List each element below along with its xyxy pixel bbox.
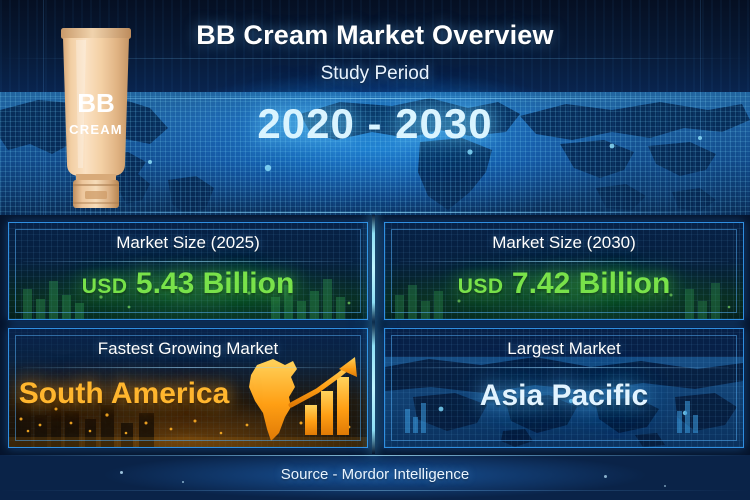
column-divider-top (372, 214, 375, 322)
panel-label-largest-market: Largest Market (385, 339, 743, 359)
bb-cream-tube-graphic: BB CREAM (52, 24, 140, 210)
panel-label-market-size-2030: Market Size (2030) (385, 233, 743, 253)
panel-divider (399, 261, 729, 262)
panel-label-market-size-2025: Market Size (2025) (9, 233, 367, 253)
footer-rule-bottom (0, 490, 750, 491)
header-section: BB CREAM BB Cream Market Overview Study … (0, 0, 750, 215)
panel-value-market-size-2030: USD 7.42 Billion (385, 267, 743, 301)
infographic-root: BB CREAM BB Cream Market Overview Study … (0, 0, 750, 500)
footer-section: Source - Mordor Intelligence (0, 455, 750, 500)
panel-value-largest-market: Asia Pacific (385, 379, 743, 413)
currency-unit: USD (458, 275, 504, 298)
panel-market-size-2030[interactable]: Market Size (2030) USD 7.42 Billion (384, 222, 744, 320)
column-divider-bottom (372, 322, 375, 454)
tube-brand-primary: BB (77, 88, 115, 118)
sparkle-dot (664, 485, 666, 487)
header-rule-bottom (0, 212, 750, 213)
panel-divider (23, 367, 353, 368)
panel-value-market-size-2025: USD 5.43 Billion (9, 267, 367, 301)
panel-fastest-growing-market[interactable]: Fastest Growing Market South America (8, 328, 368, 448)
tube-brand-secondary: CREAM (69, 122, 123, 137)
value-amount: 7.42 Billion (512, 267, 670, 300)
footer-rule-top (0, 455, 750, 456)
source-attribution: Source - Mordor Intelligence (0, 466, 750, 483)
currency-unit: USD (82, 275, 128, 298)
panel-largest-market[interactable]: Largest Market Asia Pacific (384, 328, 744, 448)
panel-market-size-2025[interactable]: Market Size (2025) USD 5.43 Billion (8, 222, 368, 320)
panel-divider (23, 261, 353, 262)
panel-value-fastest-growing-market: South America (8, 377, 303, 411)
value-amount: 5.43 Billion (136, 267, 294, 300)
panel-label-fastest-growing-market: Fastest Growing Market (9, 339, 367, 359)
panel-divider (399, 367, 729, 368)
